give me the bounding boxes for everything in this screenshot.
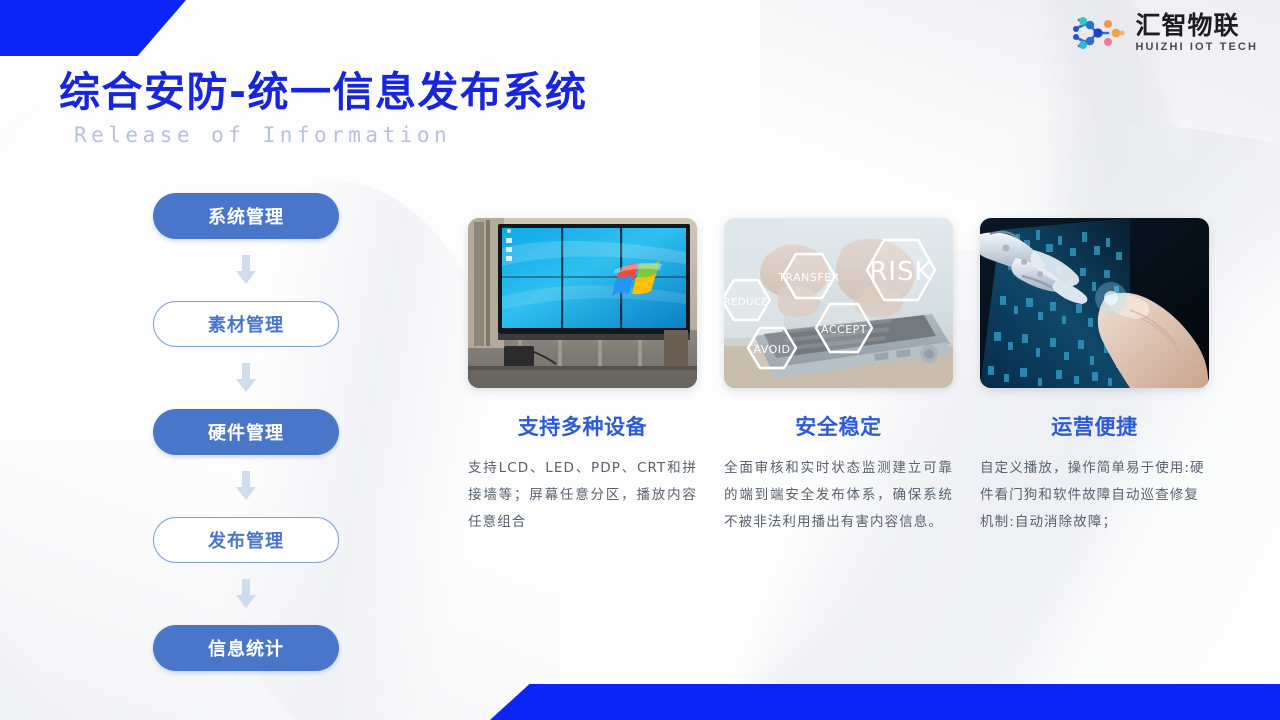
feature-card-body: 自定义播放，操作简单易于使用:硬件看门狗和软件故障自动巡查修复机制:自动消除故障…: [980, 455, 1209, 536]
robot-human-hand-photo: [980, 218, 1209, 388]
feature-card-title: 安全稳定: [724, 411, 953, 441]
flow-step-label: 系统管理: [208, 203, 284, 229]
flow-step-label: 素材管理: [208, 311, 284, 337]
feature-cards: 支持多种设备 支持LCD、LED、PDP、CRT和拼接墙等；屏幕任意分区，播放内…: [468, 218, 1209, 536]
brand-name-en: HUIZHI IOT TECH: [1135, 41, 1258, 53]
page-subtitle: Release of Information: [74, 123, 588, 147]
arrow-down-icon: [231, 563, 261, 625]
risk-hexagons-photo: RISK TRANSFER REDUCE ACCEPT AVOID: [724, 218, 953, 388]
svg-text:RISK: RISK: [869, 257, 932, 287]
flow-step-label: 发布管理: [208, 527, 284, 553]
brand-name-cn: 汇智物联: [1135, 13, 1239, 39]
svg-text:TRANSFER: TRANSFER: [777, 271, 840, 284]
feature-card-title: 支持多种设备: [468, 411, 697, 441]
feature-card: RISK TRANSFER REDUCE ACCEPT AVOID 安全稳定 全…: [724, 218, 953, 536]
flow-step-label: 信息统计: [208, 635, 284, 661]
feature-card-body: 全面审核和实时状态监测建立可靠的端到端安全发布体系，确保系统不被非法利用播出有害…: [724, 455, 953, 536]
arrow-down-icon: [231, 347, 261, 409]
svg-text:AVOID: AVOID: [753, 343, 790, 356]
arrow-down-icon: [231, 239, 261, 301]
flow-step-material-management[interactable]: 素材管理: [153, 301, 339, 347]
arrow-down-icon: [231, 455, 261, 517]
slide-root: 汇智物联 HUIZHI IOT TECH 综合安防-统一信息发布系统 Relea…: [0, 0, 1280, 720]
flow-step-hardware-management[interactable]: 硬件管理: [153, 409, 339, 455]
feature-card: 支持多种设备 支持LCD、LED、PDP、CRT和拼接墙等；屏幕任意分区，播放内…: [468, 218, 697, 536]
flow-step-information-statistics[interactable]: 信息统计: [153, 625, 339, 671]
brand-logo: 汇智物联 HUIZHI IOT TECH: [1070, 12, 1258, 54]
feature-card-body: 支持LCD、LED、PDP、CRT和拼接墙等；屏幕任意分区，播放内容任意组合: [468, 455, 697, 536]
flow-step-publish-management[interactable]: 发布管理: [153, 517, 339, 563]
corner-accent-bottom-right: [490, 684, 1280, 720]
video-wall-photo: [468, 218, 697, 388]
feature-card-title: 运营便捷: [980, 411, 1209, 441]
flow-step-label: 硬件管理: [208, 419, 284, 445]
molecule-node-icon: [1070, 12, 1126, 54]
process-flow: 系统管理 素材管理 硬件管理 发布管理 信息统计: [153, 193, 339, 671]
svg-text:ACCEPT: ACCEPT: [821, 323, 867, 336]
svg-text:REDUCE: REDUCE: [724, 297, 768, 308]
page-title-block: 综合安防-统一信息发布系统 Release of Information: [59, 70, 588, 147]
feature-card: 运营便捷 自定义播放，操作简单易于使用:硬件看门狗和软件故障自动巡查修复机制:自…: [980, 218, 1209, 536]
brand-logo-text: 汇智物联 HUIZHI IOT TECH: [1135, 13, 1258, 53]
page-title: 综合安防-统一信息发布系统: [59, 70, 588, 115]
flow-step-system-management[interactable]: 系统管理: [153, 193, 339, 239]
